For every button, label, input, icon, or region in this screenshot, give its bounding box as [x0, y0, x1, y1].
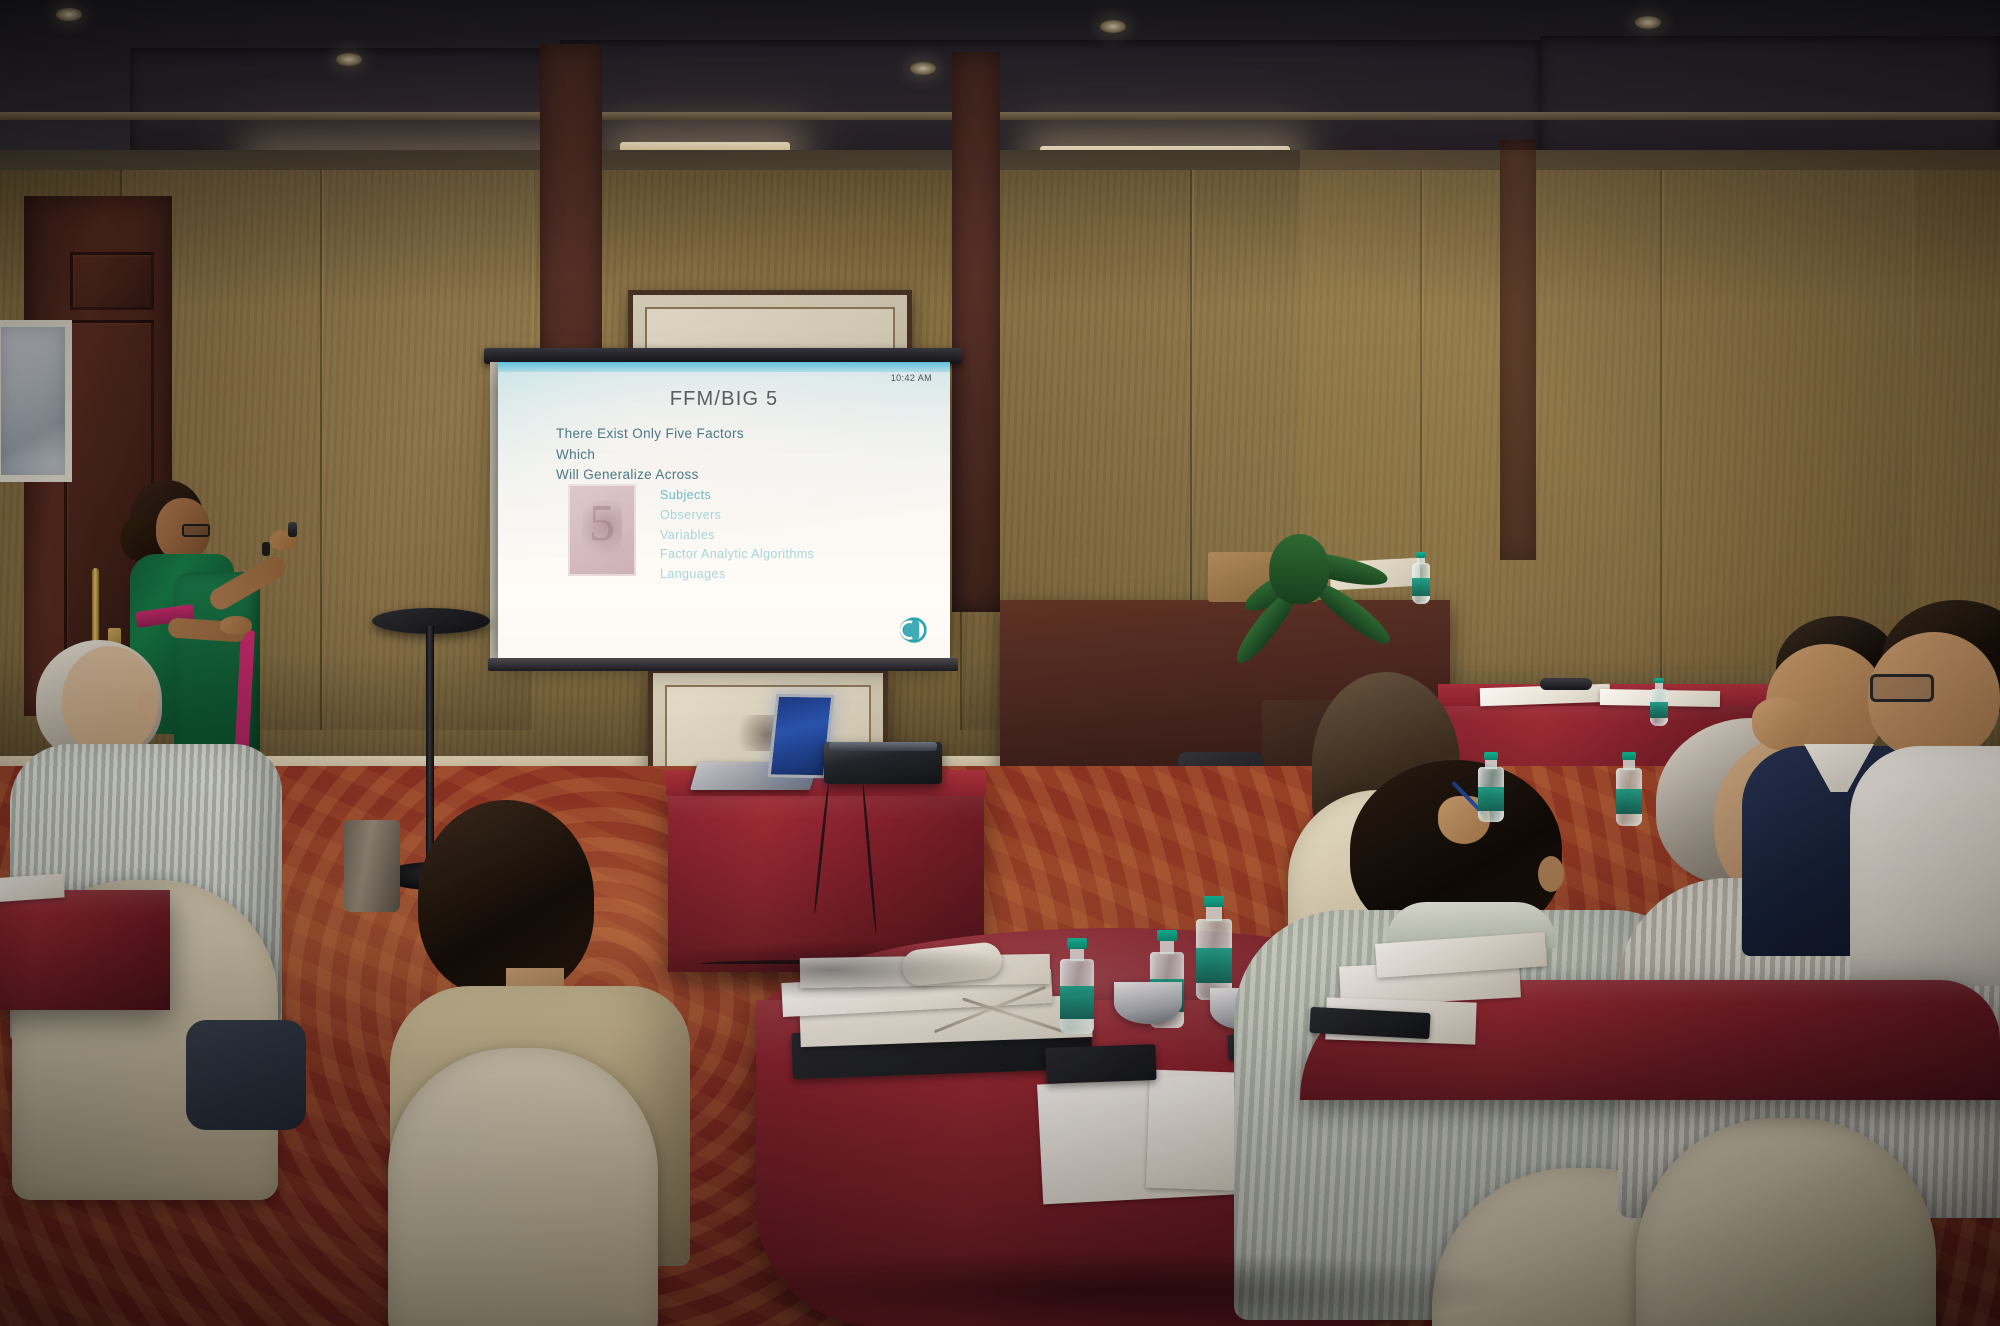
- bottle-cap: [1416, 552, 1426, 558]
- conference-room-photo: 10:42 AM FFM/BIG 5 There Exist Only Five…: [0, 0, 2000, 1326]
- attendee-1-trousers: [186, 1020, 306, 1130]
- slide-top-glow: [498, 362, 950, 372]
- presenter-gesturing-hand: [220, 616, 252, 634]
- presenter-glasses[interactable]: [182, 524, 210, 537]
- slide-timestamp: 10:42 AM: [891, 373, 932, 383]
- ceiling-cornice: [0, 112, 2000, 120]
- slide-lead-line-3: Will Generalize Across: [556, 465, 744, 486]
- projector: [824, 742, 942, 784]
- ceiling-downlight-1: [56, 8, 82, 21]
- bottle-label: [1412, 578, 1430, 596]
- slide-stamp-graphic: 5: [568, 484, 636, 576]
- slide-bullet-4: Factor Analytic Algorithms: [660, 545, 814, 565]
- bottle-cap: [1067, 938, 1086, 949]
- ceiling-downlight-5: [1635, 16, 1661, 29]
- attendee-7: [1856, 600, 2000, 980]
- bottle-label: [1060, 986, 1094, 1019]
- attendee-2-hair: [418, 800, 594, 996]
- attendee-4-ear: [1538, 856, 1564, 892]
- attendee-2-chair[interactable]: [388, 1048, 658, 1326]
- right-table-water-bottle[interactable]: [1616, 752, 1642, 826]
- slide-bullet-1: Subjects: [660, 486, 814, 506]
- attendee-7-glasses[interactable]: [1870, 674, 1934, 702]
- right-table-water-bottle-2[interactable]: [1478, 752, 1504, 822]
- bottle-cap: [1204, 896, 1224, 907]
- bottle-cap: [1654, 678, 1664, 683]
- attendee-1-ear: [138, 692, 158, 720]
- slide-bullet-3: Variables: [660, 526, 814, 546]
- slide-bullet-list: Subjects Observers Variables Factor Anal…: [660, 486, 814, 585]
- table-floor-shadow-front: [700, 1250, 1520, 1326]
- door-side-glass-panel: [0, 320, 72, 482]
- projected-slide: 10:42 AM FFM/BIG 5 There Exist Only Five…: [498, 362, 950, 658]
- bottle-cap: [1484, 752, 1499, 760]
- attendee-6-hand-on-chin: [1752, 698, 1810, 750]
- wall-column-right: [952, 52, 1000, 612]
- microphone-on-back-table[interactable]: [1540, 678, 1592, 690]
- front-table-water-bottle-1[interactable]: [1060, 938, 1094, 1034]
- projection-screen-assembly: 10:42 AM FFM/BIG 5 There Exist Only Five…: [498, 362, 950, 662]
- front-table-water-bottle-2[interactable]: [1196, 896, 1232, 1000]
- slide-lead-line-1: There Exist Only Five Factors: [556, 424, 744, 445]
- presenter-clicker[interactable]: [288, 522, 297, 537]
- palm-frond-5: [1268, 533, 1330, 605]
- projector-top-cover: [829, 742, 938, 751]
- front-table-folder-right[interactable]: [1045, 1044, 1156, 1084]
- slide-lead-line-2: Which: [556, 445, 744, 466]
- wall-right-alcove: [1300, 150, 2000, 670]
- bottle-label: [1196, 948, 1232, 983]
- attendee-7-shirt: [1850, 746, 2000, 986]
- waste-bin: [344, 820, 400, 912]
- bottle-cap: [1157, 930, 1176, 941]
- screen-bottom-weight-bar: [488, 658, 958, 671]
- left-edge-table: [0, 890, 170, 1010]
- slide-bullet-2: Observers: [660, 506, 814, 526]
- bottle-label: [1616, 789, 1642, 814]
- ceiling-downlight-3: [910, 62, 936, 75]
- front-table-candy-bowl[interactable]: [1114, 982, 1182, 1024]
- presenter-wristwatch: [262, 542, 270, 556]
- bottle-label: [1650, 702, 1668, 718]
- water-bottle-credenza[interactable]: [1412, 552, 1430, 604]
- bottle-label: [1478, 787, 1504, 811]
- slide-lead-text: There Exist Only Five Factors Which Will…: [556, 424, 744, 486]
- door-panel-upper: [70, 252, 154, 310]
- slide-bullet-5: Languages: [660, 565, 814, 585]
- teal-circle-c-logo: [900, 616, 928, 644]
- table-floor-shadow-projector: [640, 940, 1020, 1000]
- projection-screen: 10:42 AM FFM/BIG 5 There Exist Only Five…: [498, 362, 950, 658]
- slide-stamp-number: 5: [568, 494, 636, 553]
- ceiling-downlight-4: [1100, 20, 1126, 33]
- bottle-cap: [1622, 752, 1637, 760]
- ceiling-downlight-2: [336, 53, 362, 66]
- slide-title: FFM/BIG 5: [498, 388, 950, 411]
